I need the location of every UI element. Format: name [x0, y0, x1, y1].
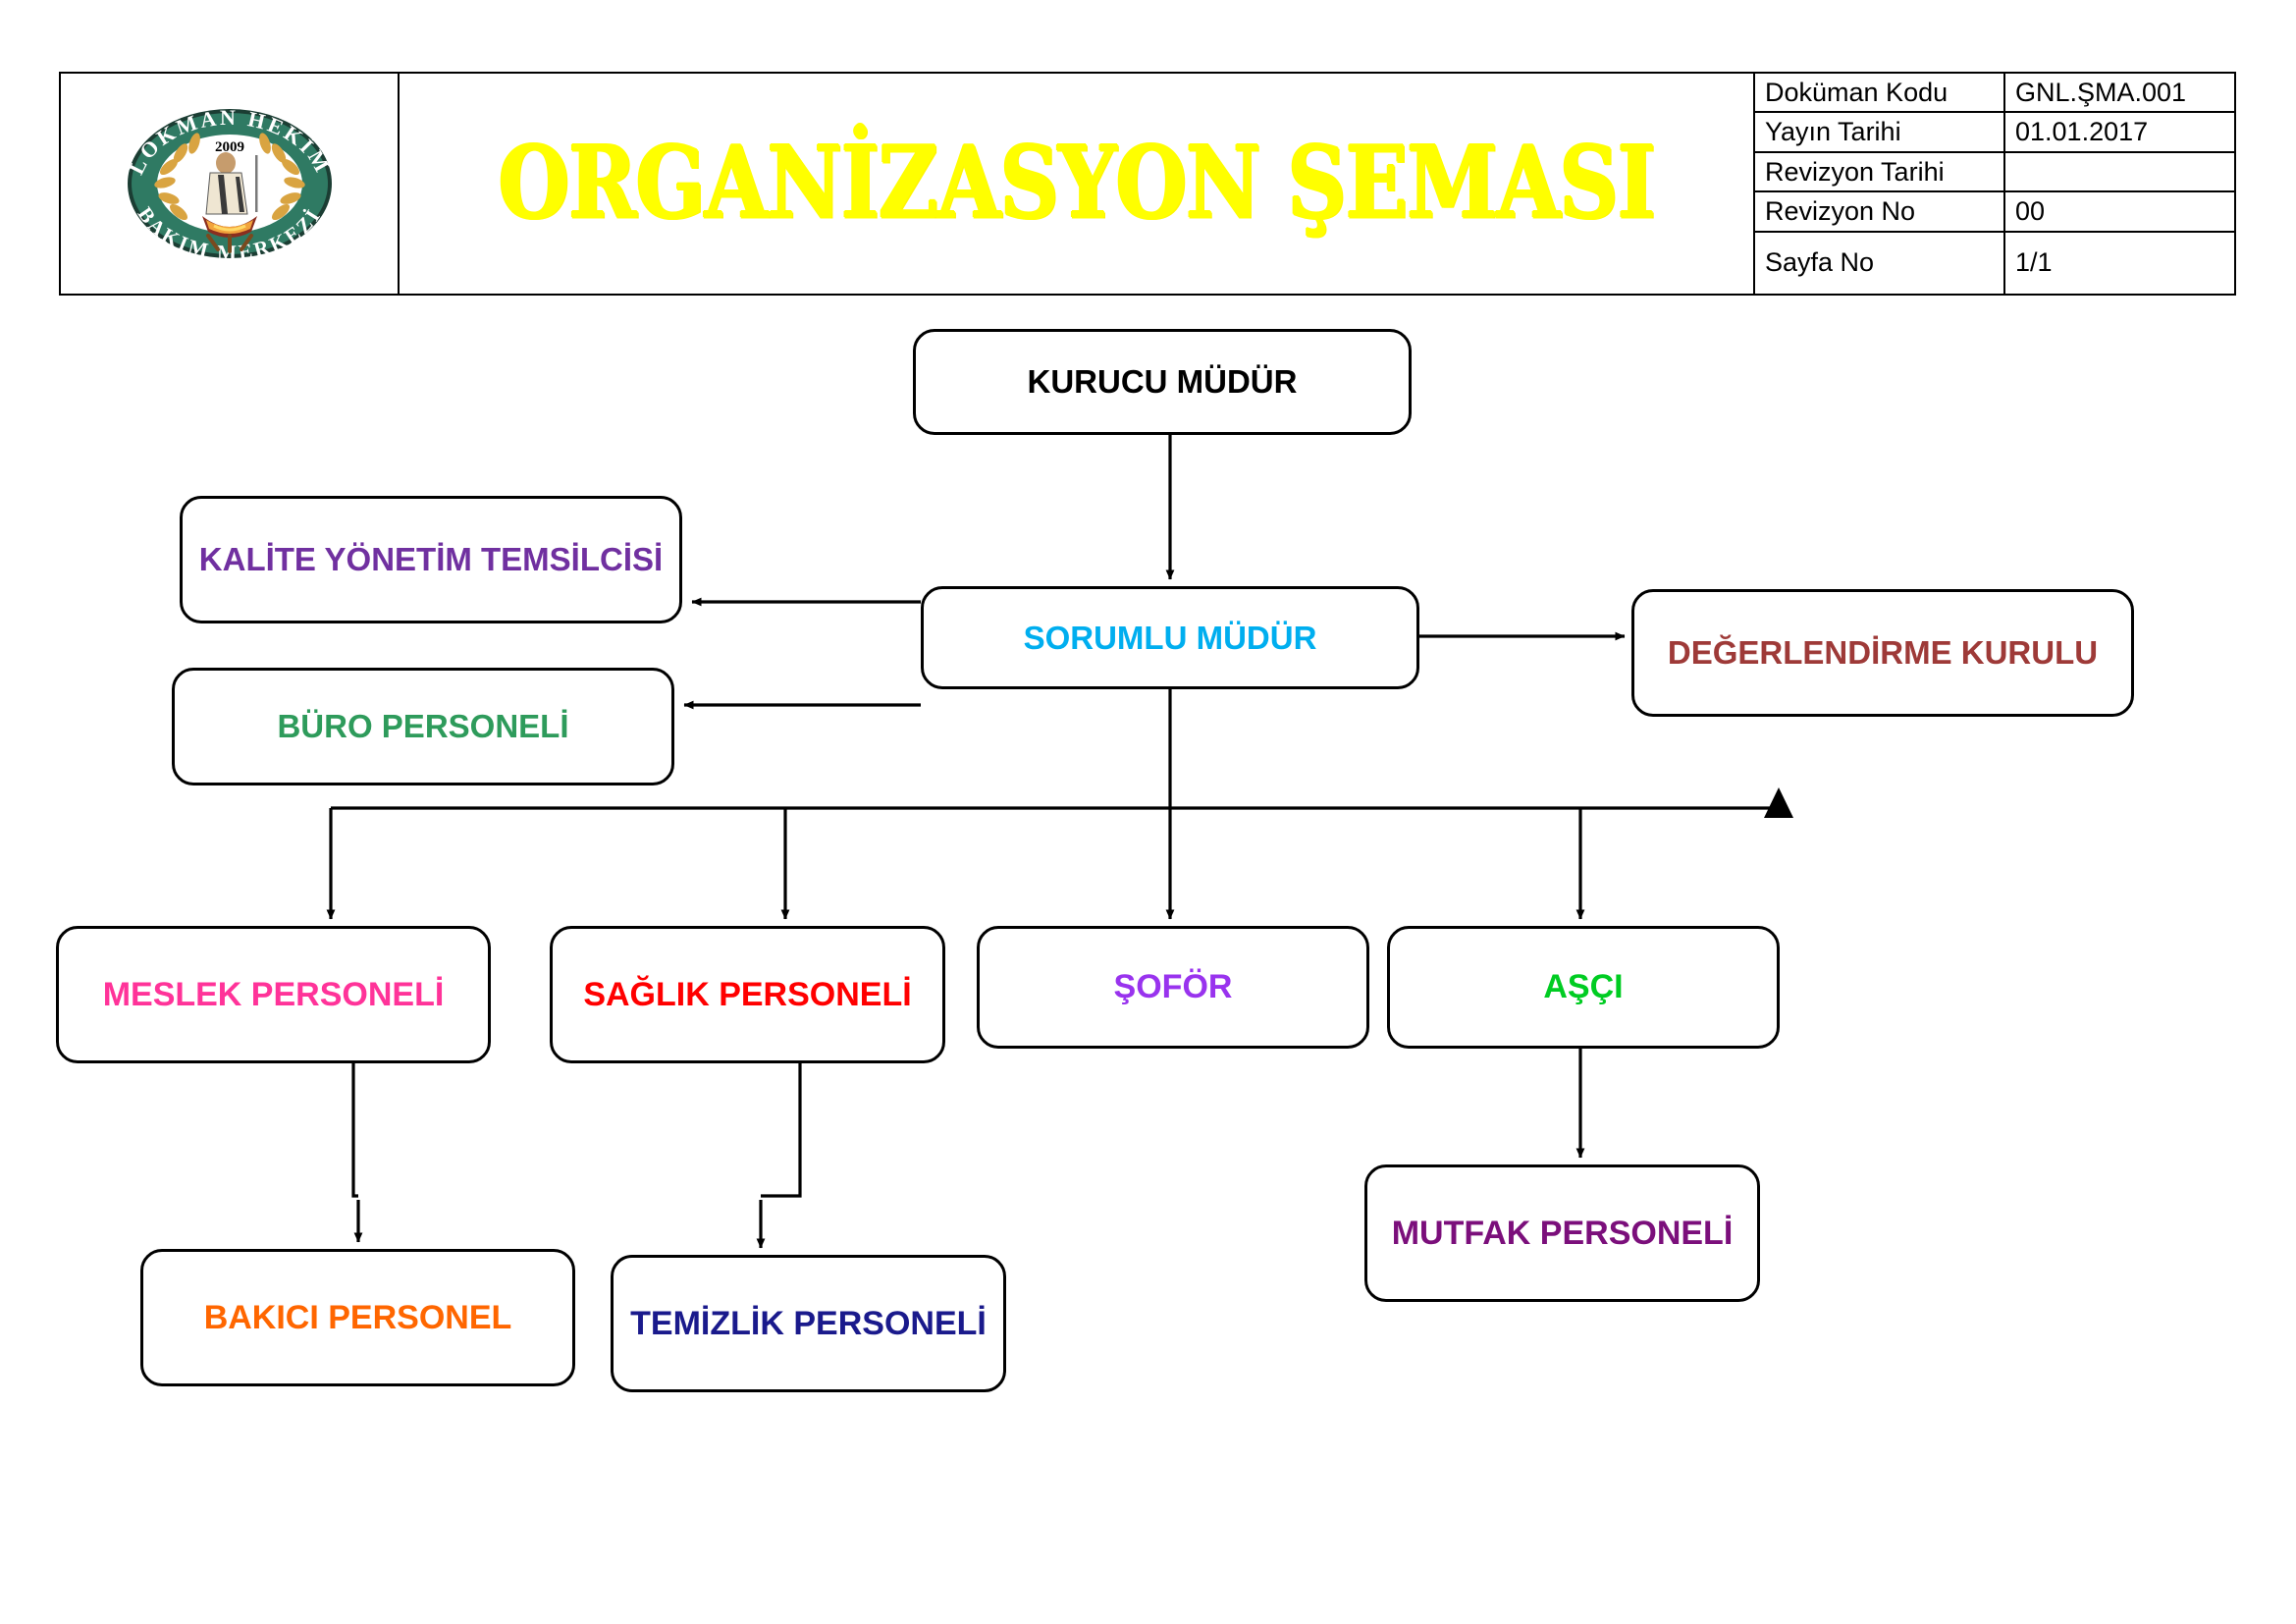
node-label: BAKICI PERSONEL	[204, 1293, 512, 1343]
organization-chart-page: LOKMAN HEKİM BAKIM MERKEZİ	[0, 0, 2296, 1624]
node-sofor[interactable]: ŞOFÖR	[977, 926, 1369, 1049]
node-meslek-personeli[interactable]: MESLEK PERSONELİ	[56, 926, 491, 1063]
node-label: MESLEK PERSONELİ	[103, 970, 445, 1020]
node-sorumlu-mudur[interactable]: SORUMLU MÜDÜR	[921, 586, 1419, 689]
node-label: TEMİZLİK PERSONELİ	[630, 1299, 987, 1349]
node-bakici-personel[interactable]: BAKICI PERSONEL	[140, 1249, 575, 1386]
node-label: KALİTE YÖNETİM TEMSİLCİSİ	[199, 535, 663, 584]
node-label: ŞOFÖR	[1114, 962, 1233, 1012]
bus-end-arrowhead-icon	[1764, 787, 1793, 818]
node-label: AŞÇI	[1543, 962, 1623, 1012]
node-kalite-yonetim-temsilcisi[interactable]: KALİTE YÖNETİM TEMSİLCİSİ	[180, 496, 682, 623]
node-temizlik-personeli[interactable]: TEMİZLİK PERSONELİ	[611, 1255, 1006, 1392]
node-kurucu-mudur[interactable]: KURUCU MÜDÜR	[913, 329, 1412, 435]
node-label: DEĞERLENDİRME KURULU	[1668, 628, 2098, 677]
node-saglik-personeli[interactable]: SAĞLIK PERSONELİ	[550, 926, 945, 1063]
node-buro-personeli[interactable]: BÜRO PERSONELİ	[172, 668, 674, 785]
node-label: SAĞLIK PERSONELİ	[583, 970, 911, 1020]
node-label: MUTFAK PERSONELİ	[1392, 1209, 1734, 1259]
node-asci[interactable]: AŞÇI	[1387, 926, 1780, 1049]
node-mutfak-personeli[interactable]: MUTFAK PERSONELİ	[1364, 1164, 1760, 1302]
edge-saglik-temizlik	[761, 1063, 800, 1196]
node-label: KURUCU MÜDÜR	[1028, 357, 1298, 406]
node-degerlendirme-kurulu[interactable]: DEĞERLENDİRME KURULU	[1631, 589, 2134, 717]
node-label: BÜRO PERSONELİ	[277, 702, 568, 751]
edge-meslek-bakici	[353, 1063, 358, 1196]
org-chart-canvas: KURUCU MÜDÜR KALİTE YÖNETİM TEMSİLCİSİ B…	[0, 0, 2296, 1624]
node-label: SORUMLU MÜDÜR	[1024, 614, 1317, 663]
